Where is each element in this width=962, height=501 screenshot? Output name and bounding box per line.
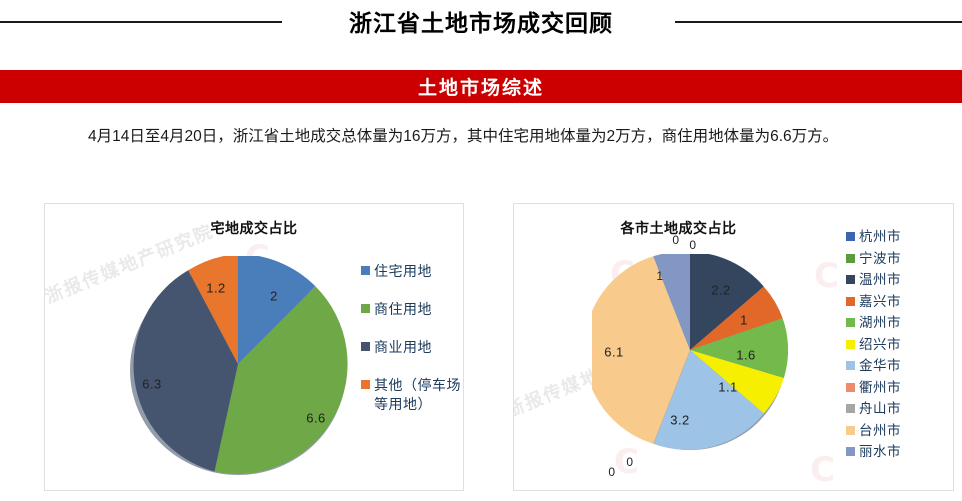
pie-label-huzhou: 1.6	[736, 348, 756, 363]
legend-item-label: 商住用地	[374, 300, 432, 319]
city-plot-area: 0 0 2.2 1 1.6 1.1 3.2 0 0 6.1 1 杭州市 宁波市	[514, 204, 954, 491]
legend-item-label: 绍兴市	[859, 336, 901, 353]
zhaidi-pie-svg	[128, 256, 348, 476]
page-header: 浙江省土地市场成交回顾	[0, 0, 962, 52]
legend-item-jinhua[interactable]: 金华市	[846, 357, 951, 374]
legend-item-wenzhou[interactable]: 温州市	[846, 271, 951, 288]
legend-swatch-icon	[846, 232, 855, 241]
pie-label-jiaxing: 1	[740, 313, 748, 328]
legend-item-shangzhu[interactable]: 商住用地	[361, 300, 464, 319]
legend-item-label: 丽水市	[859, 443, 901, 460]
pie-label-hangzhou: 0	[672, 233, 679, 247]
legend-item-zhoushan[interactable]: 舟山市	[846, 400, 951, 417]
pie-label-zhoushan: 0	[608, 465, 615, 479]
legend-item-label: 衢州市	[859, 379, 901, 396]
city-legend: 杭州市 宁波市 温州市 嘉兴市 湖州市 绍兴市	[846, 228, 951, 465]
legend-item-qita[interactable]: 其他（停车场等用地）	[361, 376, 464, 414]
legend-swatch-icon	[846, 447, 855, 456]
zhaidi-plot-area: 2 6.6 6.3 1.2 住宅用地 商住用地 商业用地 其他（停车场等用地）	[45, 204, 464, 491]
legend-swatch-icon	[846, 297, 855, 306]
legend-item-label: 宁波市	[859, 250, 901, 267]
pie-label-ningbo: 0	[689, 238, 696, 252]
legend-item-shaoxing[interactable]: 绍兴市	[846, 336, 951, 353]
pie-label-qita: 1.2	[206, 281, 226, 296]
legend-item-hangzhou[interactable]: 杭州市	[846, 228, 951, 245]
legend-item-quzhou[interactable]: 衢州市	[846, 379, 951, 396]
legend-swatch-icon	[846, 275, 855, 284]
pie-label-lishui: 1	[656, 269, 663, 283]
legend-swatch-icon	[846, 318, 855, 327]
legend-item-huzhou[interactable]: 湖州市	[846, 314, 951, 331]
pie-label-shaoxing: 1.1	[718, 380, 738, 395]
legend-item-label: 其他（停车场等用地）	[374, 376, 464, 414]
pie-label-jinhua: 3.2	[670, 413, 690, 428]
pie-label-quzhou: 0	[626, 455, 633, 469]
section-banner: 土地市场综述	[0, 70, 962, 103]
legend-swatch-icon	[361, 380, 370, 389]
legend-item-label: 台州市	[859, 422, 901, 439]
city-pie: 0 0 2.2 1 1.6 1.1 3.2 0 0 6.1 1	[592, 254, 788, 450]
legend-swatch-icon	[846, 254, 855, 263]
pie-label-shangzhu: 6.6	[306, 411, 326, 426]
legend-item-jiaxing[interactable]: 嘉兴市	[846, 293, 951, 310]
legend-swatch-icon	[361, 266, 370, 275]
pie-label-zhuzhai: 2	[270, 289, 278, 304]
market-summary-paragraph: 4月14日至4月20日，浙江省土地成交总体量为16万方，其中住宅用地体量为2万方…	[88, 122, 888, 151]
legend-item-taizhou[interactable]: 台州市	[846, 422, 951, 439]
pie-label-wenzhou: 2.2	[711, 283, 731, 298]
pie-label-taizhou: 6.1	[604, 345, 624, 360]
legend-item-label: 舟山市	[859, 400, 901, 417]
page-title: 浙江省土地市场成交回顾	[0, 4, 962, 38]
legend-item-label: 温州市	[859, 271, 901, 288]
legend-swatch-icon	[846, 404, 855, 413]
legend-swatch-icon	[361, 304, 370, 313]
legend-item-zhuzhai[interactable]: 住宅用地	[361, 262, 464, 281]
legend-item-label: 住宅用地	[374, 262, 432, 281]
legend-swatch-icon	[846, 361, 855, 370]
zhaidi-legend: 住宅用地 商住用地 商业用地 其他（停车场等用地）	[361, 262, 464, 433]
pie-label-shangye: 6.3	[142, 377, 162, 392]
section-banner-title: 土地市场综述	[418, 73, 544, 100]
legend-swatch-icon	[846, 340, 855, 349]
legend-item-label: 金华市	[859, 357, 901, 374]
legend-item-shangye[interactable]: 商业用地	[361, 338, 464, 357]
legend-item-lishui[interactable]: 丽水市	[846, 443, 951, 460]
legend-swatch-icon	[846, 426, 855, 435]
zhaidi-chart-panel: 浙报传媒地产研究院 C C 宅地成交占比 2 6.6 6.3 1.	[44, 203, 464, 491]
city-chart-panel: 浙报传媒地产研究院 C C C C 各市土地成交占比	[513, 203, 954, 491]
legend-swatch-icon	[846, 383, 855, 392]
zhaidi-pie: 2 6.6 6.3 1.2	[128, 256, 348, 476]
legend-item-ningbo[interactable]: 宁波市	[846, 250, 951, 267]
legend-swatch-icon	[361, 342, 370, 351]
legend-item-label: 杭州市	[859, 228, 901, 245]
legend-item-label: 商业用地	[374, 338, 432, 357]
legend-item-label: 湖州市	[859, 314, 901, 331]
legend-item-label: 嘉兴市	[859, 293, 901, 310]
